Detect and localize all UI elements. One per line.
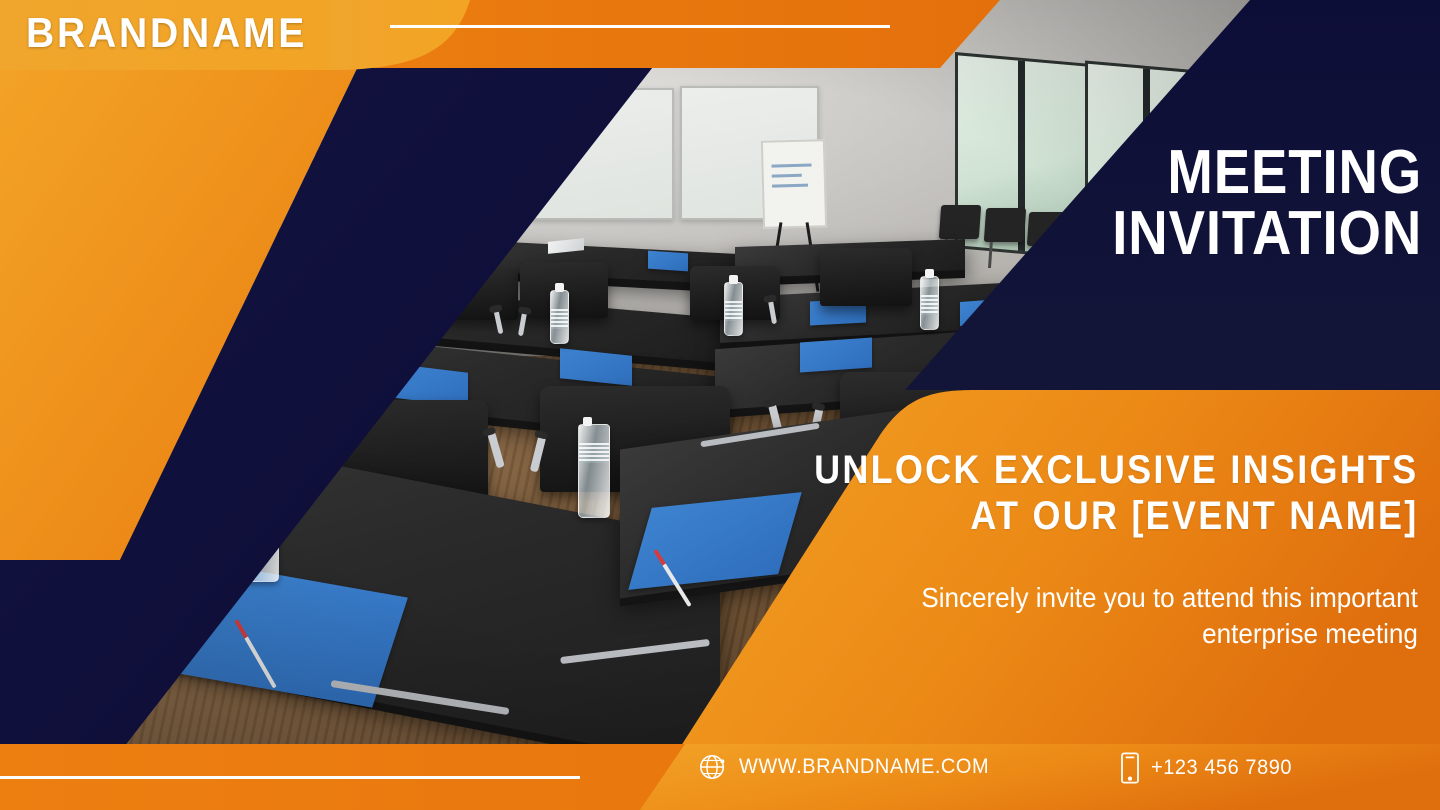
subtext-line-1: Sincerely invite you to attend this impo… <box>922 582 1418 613</box>
bottom-rule <box>0 776 580 779</box>
headline-line-2: AT OUR [EVENT NAME] <box>814 494 1418 540</box>
brand-shape-layer <box>0 0 1440 810</box>
phone-contact[interactable]: +123 456 7890 <box>1120 752 1300 784</box>
page-title: MEETING INVITATION <box>1112 143 1422 265</box>
subtext: Sincerely invite you to attend this impo… <box>922 580 1418 653</box>
title-line-2: INVITATION <box>1112 204 1422 265</box>
meeting-invitation-poster: BRANDNAME MEETING INVITATION UNLOCK EXCL… <box>0 0 1440 810</box>
mobile-phone-icon <box>1120 752 1140 784</box>
headline-line-1: UNLOCK EXCLUSIVE INSIGHTS <box>814 448 1418 492</box>
phone-label: +123 456 7890 <box>1151 756 1292 780</box>
website-contact[interactable]: WWW.BRANDNAME.COM <box>698 752 1002 782</box>
website-label: WWW.BRANDNAME.COM <box>739 755 989 779</box>
globe-icon <box>698 752 728 782</box>
title-line-1: MEETING <box>1167 138 1422 207</box>
subtext-line-2: enterprise meeting <box>922 616 1418 652</box>
brand-logo-text: BRANDNAME <box>26 12 307 54</box>
headline: UNLOCK EXCLUSIVE INSIGHTS AT OUR [EVENT … <box>814 448 1418 539</box>
top-rule <box>390 25 890 28</box>
